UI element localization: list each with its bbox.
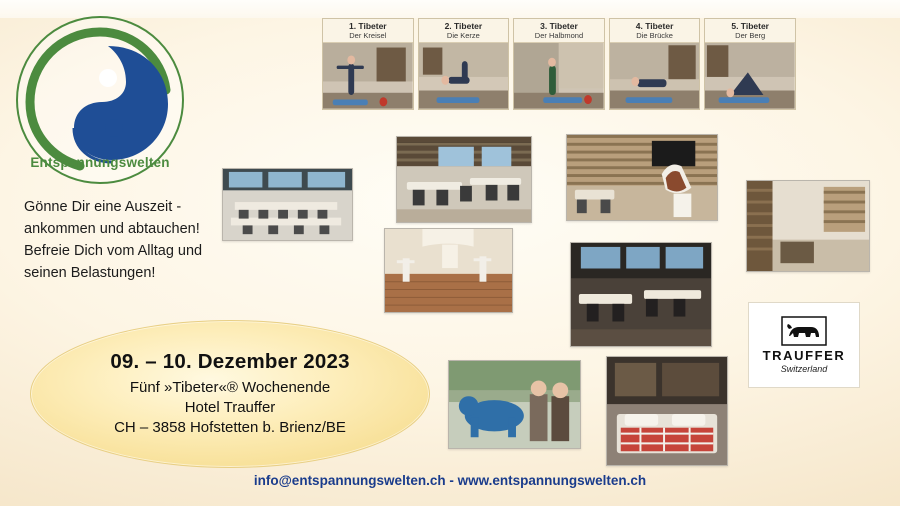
tibeter-caption-4: 4. Tibeter Die Brücke	[610, 19, 700, 43]
event-date: 09. – 10. Dezember 2023	[110, 350, 349, 374]
event-title: Fünf »Tibeter«® Wochenende	[130, 378, 330, 398]
photo-dance-hall	[384, 228, 513, 313]
event-address: CH – 3858 Hofstetten b. Brienz/BE	[114, 418, 346, 438]
flyer-page: Entspannungswelten Gönne Dir eine Auszei…	[0, 0, 900, 506]
tibeter-name-2: Die Kerze	[419, 32, 509, 41]
footer-contact[interactable]: info@entspannungswelten.ch - www.entspan…	[0, 473, 900, 488]
intro-line-1: Gönne Dir eine Auszeit -	[24, 196, 254, 218]
tibeter-caption-1: 1. Tibeter Der Kreisel	[323, 19, 413, 43]
tibeter-photo-3	[514, 43, 604, 109]
tibeter-cell-5: 5. Tibeter Der Berg	[704, 18, 796, 110]
tibeter-caption-5: 5. Tibeter Der Berg	[705, 19, 795, 43]
tibeter-cell-4: 4. Tibeter Die Brücke	[609, 18, 701, 110]
entspannungswelten-logo: Entspannungswelten	[16, 16, 184, 184]
intro-paragraph: Gönne Dir eine Auszeit - ankommen und ab…	[24, 196, 254, 284]
tibeter-cell-3: 3. Tibeter Der Halbmond	[513, 18, 605, 110]
photo-couple-with-cow	[448, 360, 581, 449]
tibeter-caption-2: 2. Tibeter Die Kerze	[419, 19, 509, 43]
photo-hotel-room-wood	[746, 180, 870, 272]
photo-seminar-room-long-tables	[222, 168, 353, 241]
photo-dining-room	[570, 242, 712, 347]
tibeter-name-1: Der Kreisel	[323, 32, 413, 41]
tibeter-photo-5	[705, 43, 795, 109]
photo-bedroom-with-blanket	[606, 356, 728, 466]
tibeter-name-5: Der Berg	[705, 32, 795, 41]
tibeter-exercise-strip: 1. Tibeter Der Kreisel 2. Ti	[322, 18, 796, 110]
intro-line-2: ankommen und abtauchen!	[24, 218, 254, 240]
tibeter-photo-1	[323, 43, 413, 109]
intro-line-4: seinen Belastungen!	[24, 262, 254, 284]
tibeter-cell-2: 2. Tibeter Die Kerze	[418, 18, 510, 110]
trauffer-subtitle: Switzerland	[781, 364, 828, 374]
intro-line-3: Befreie Dich vom Alltag und	[24, 240, 254, 262]
trauffer-logo-card: TRAUFFER Switzerland	[748, 302, 860, 388]
cow-icon	[781, 316, 827, 346]
tibeter-photo-4	[610, 43, 700, 109]
event-venue: Hotel Trauffer	[185, 398, 276, 418]
logo-text: Entspannungswelten	[16, 155, 184, 170]
tibeter-photo-2	[419, 43, 509, 109]
trauffer-name: TRAUFFER	[763, 349, 846, 362]
event-info-ellipse: 09. – 10. Dezember 2023 Fünf »Tibeter«® …	[30, 320, 430, 468]
tibeter-cell-1: 1. Tibeter Der Kreisel	[322, 18, 414, 110]
tibeter-caption-3: 3. Tibeter Der Halbmond	[514, 19, 604, 43]
tibeter-name-4: Die Brücke	[610, 32, 700, 41]
photo-lounge-with-tv	[566, 134, 718, 221]
tibeter-name-3: Der Halbmond	[514, 32, 604, 41]
photo-restaurant-interior	[396, 136, 532, 223]
